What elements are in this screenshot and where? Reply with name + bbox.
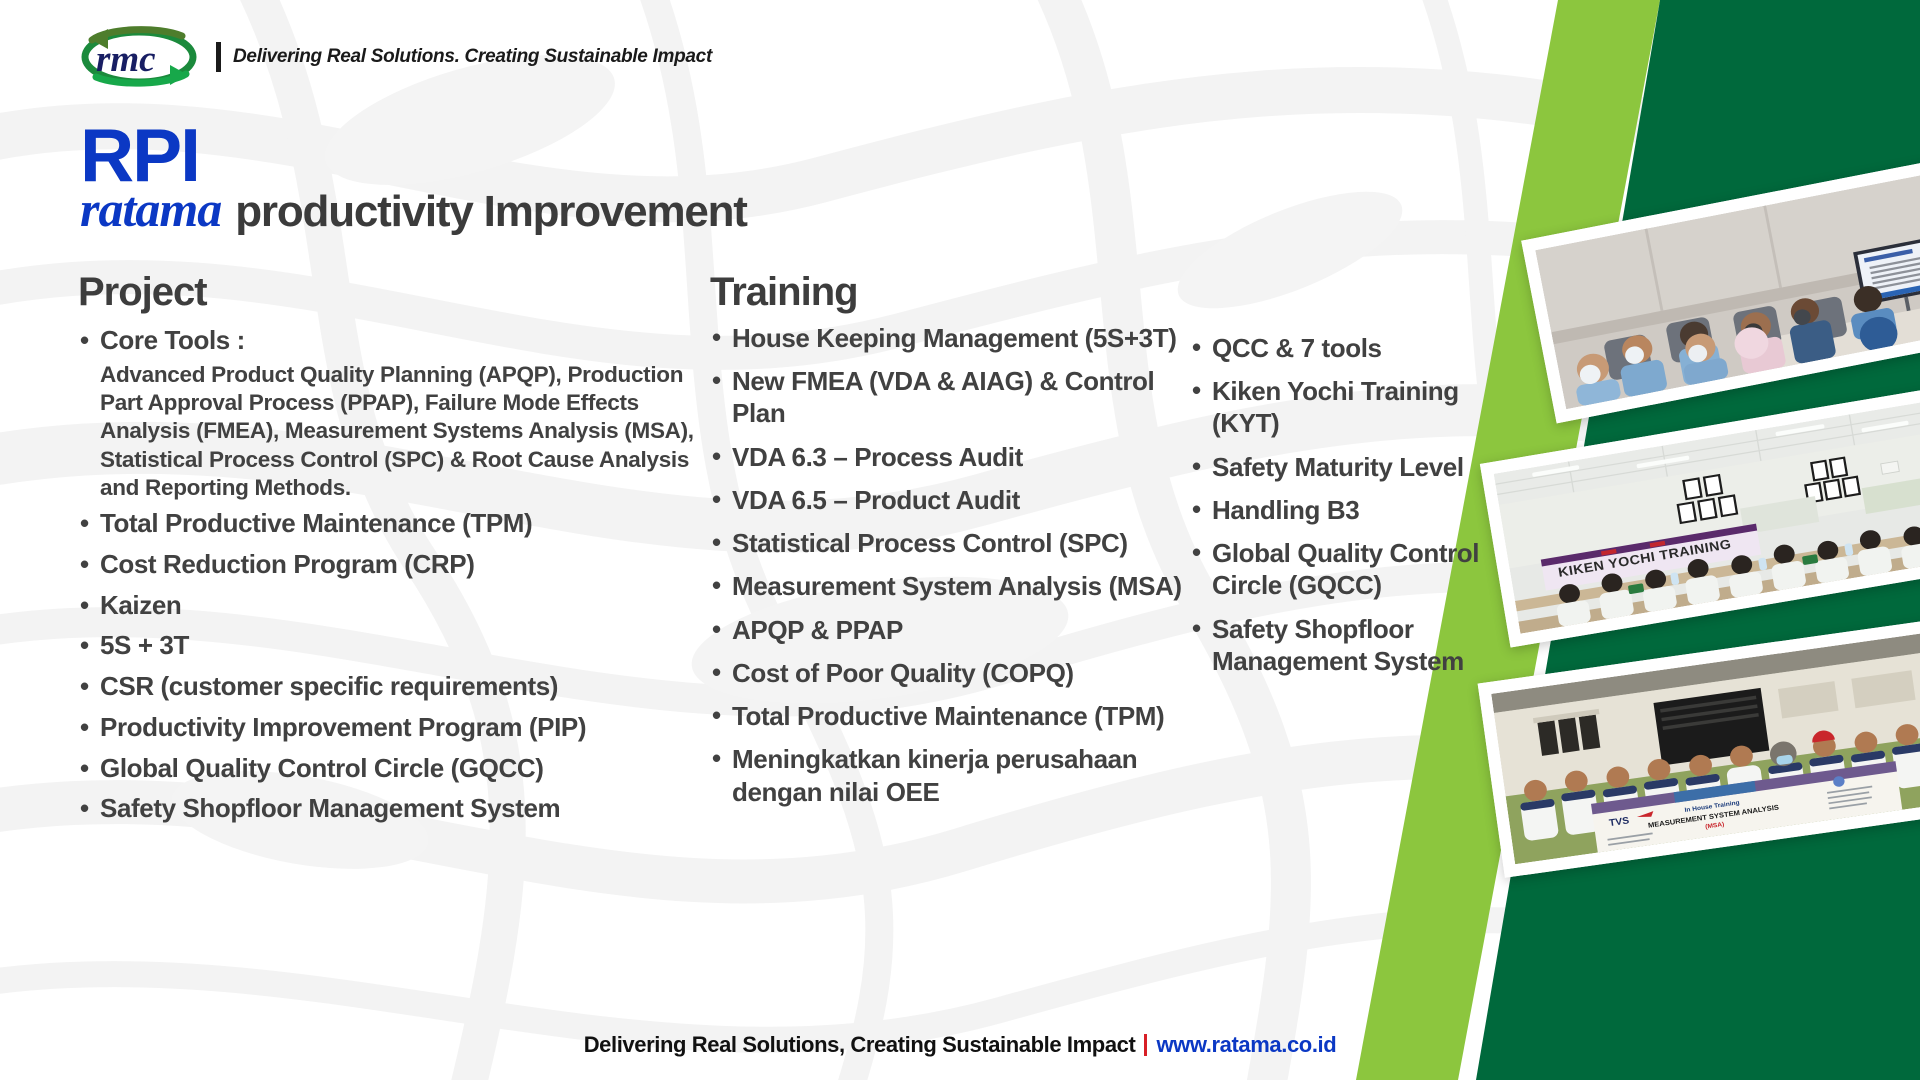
brand-header: rmc Delivering Real Solutions. Creating … bbox=[78, 26, 712, 88]
list-item[interactable]: Safety Maturity Level bbox=[1190, 451, 1490, 483]
list-item[interactable]: New FMEA (VDA & AIAG) & Control Plan bbox=[710, 365, 1190, 429]
column-training-extra: QCC & 7 tools Kiken Yochi Training (KYT)… bbox=[1190, 272, 1490, 688]
list-item[interactable]: Statistical Process Control (SPC) bbox=[710, 527, 1190, 559]
list-item[interactable]: 5S + 3T bbox=[78, 627, 718, 665]
content-columns: Project Core Tools : Advanced Product Qu… bbox=[0, 272, 1560, 1002]
list-item[interactable]: Cost Reduction Program (CRP) bbox=[78, 546, 718, 584]
list-item[interactable]: Meningkatkan kinerja perusahaan dengan n… bbox=[710, 743, 1190, 807]
list-item[interactable]: Total Productive Maintenance (TPM) bbox=[710, 700, 1190, 732]
list-item[interactable]: Kiken Yochi Training (KYT) bbox=[1190, 375, 1490, 439]
list-item[interactable]: Safety Shopfloor Management System bbox=[1190, 613, 1490, 677]
list-item[interactable]: Global Quality Control Circle (GQCC) bbox=[78, 750, 718, 788]
list-item[interactable]: Core Tools : Advanced Product Quality Pl… bbox=[78, 322, 718, 502]
column-project-heading: Project bbox=[78, 272, 718, 312]
header-divider bbox=[216, 42, 221, 72]
page-title: RPI ratama productivity Improvement bbox=[80, 122, 747, 234]
list-item[interactable]: Handling B3 bbox=[1190, 494, 1490, 526]
list-item[interactable]: Cost of Poor Quality (COPQ) bbox=[710, 657, 1190, 689]
list-item-label: Core Tools : bbox=[100, 325, 245, 355]
core-tools-detail: Advanced Product Quality Planning (APQP)… bbox=[100, 361, 718, 503]
list-item[interactable]: Productivity Improvement Program (PIP) bbox=[78, 709, 718, 747]
list-item[interactable]: Safety Shopfloor Management System bbox=[78, 790, 718, 828]
list-item[interactable]: Total Productive Maintenance (TPM) bbox=[78, 505, 718, 543]
list-item[interactable]: CSR (customer specific requirements) bbox=[78, 668, 718, 706]
footer-url[interactable]: www.ratama.co.id bbox=[1156, 1032, 1336, 1058]
project-list: Core Tools : Advanced Product Quality Pl… bbox=[78, 322, 718, 828]
title-rest: productivity Improvement bbox=[235, 190, 747, 234]
list-item[interactable]: VDA 6.3 – Process Audit bbox=[710, 441, 1190, 473]
list-item[interactable]: VDA 6.5 – Product Audit bbox=[710, 484, 1190, 516]
list-item[interactable]: QCC & 7 tools bbox=[1190, 332, 1490, 364]
column-project: Project Core Tools : Advanced Product Qu… bbox=[78, 272, 718, 831]
rmc-logo: rmc bbox=[78, 26, 200, 88]
title-script-word: ratama bbox=[80, 184, 221, 234]
list-item[interactable]: Global Quality Control Circle (GQCC) bbox=[1190, 537, 1490, 601]
column-training-heading: Training bbox=[710, 272, 1190, 312]
list-item[interactable]: APQP & PPAP bbox=[710, 614, 1190, 646]
svg-text:rmc: rmc bbox=[96, 39, 156, 80]
column-training: Training House Keeping Management (5S+3T… bbox=[710, 272, 1190, 819]
training-list: House Keeping Management (5S+3T) New FME… bbox=[710, 322, 1190, 808]
footer: Delivering Real Solutions, Creating Sust… bbox=[0, 1032, 1920, 1058]
list-item[interactable]: Measurement System Analysis (MSA) bbox=[710, 570, 1190, 602]
footer-tagline: Delivering Real Solutions, Creating Sust… bbox=[584, 1032, 1136, 1058]
training-extra-list: QCC & 7 tools Kiken Yochi Training (KYT)… bbox=[1190, 332, 1490, 677]
list-item[interactable]: House Keeping Management (5S+3T) bbox=[710, 322, 1190, 354]
brand-tagline: Delivering Real Solutions. Creating Sust… bbox=[233, 46, 712, 68]
title-acronym: RPI bbox=[80, 122, 747, 188]
footer-divider bbox=[1144, 1034, 1147, 1056]
list-item[interactable]: Kaizen bbox=[78, 587, 718, 625]
